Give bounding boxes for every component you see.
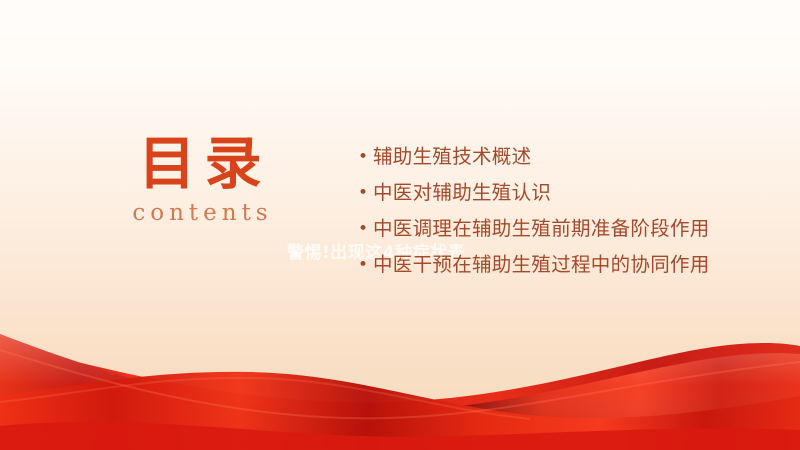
list-item[interactable]: • 中医对辅助生殖认识 <box>358 175 726 211</box>
presentation-slide: 目录 contents 警惕!出现这4种症状表 • 辅助生殖技术概述 • 中医对… <box>0 0 800 450</box>
list-item-label: 中医对辅助生殖认识 <box>373 175 726 211</box>
toc-heading-block: 目录 contents <box>70 132 330 226</box>
list-item[interactable]: • 中医调理在辅助生殖前期准备阶段作用 <box>358 211 726 247</box>
red-ribbon-decoration <box>0 310 800 450</box>
bullet-dot-icon: • <box>358 211 373 247</box>
page-subtitle: contents <box>70 200 330 226</box>
list-item[interactable]: • 辅助生殖技术概述 <box>358 139 726 175</box>
list-item-label: 辅助生殖技术概述 <box>373 139 726 175</box>
page-title: 目录 <box>70 132 330 196</box>
bullet-dot-icon: • <box>358 175 373 211</box>
list-item[interactable]: • 中医干预在辅助生殖过程中的协同作用 <box>358 247 726 283</box>
list-item-label: 中医调理在辅助生殖前期准备阶段作用 <box>373 211 726 247</box>
bullet-dot-icon: • <box>358 139 373 175</box>
bullet-dot-icon: • <box>358 247 373 283</box>
list-item-label: 中医干预在辅助生殖过程中的协同作用 <box>373 247 726 283</box>
toc-list: • 辅助生殖技术概述 • 中医对辅助生殖认识 • 中医调理在辅助生殖前期准备阶段… <box>358 139 726 283</box>
